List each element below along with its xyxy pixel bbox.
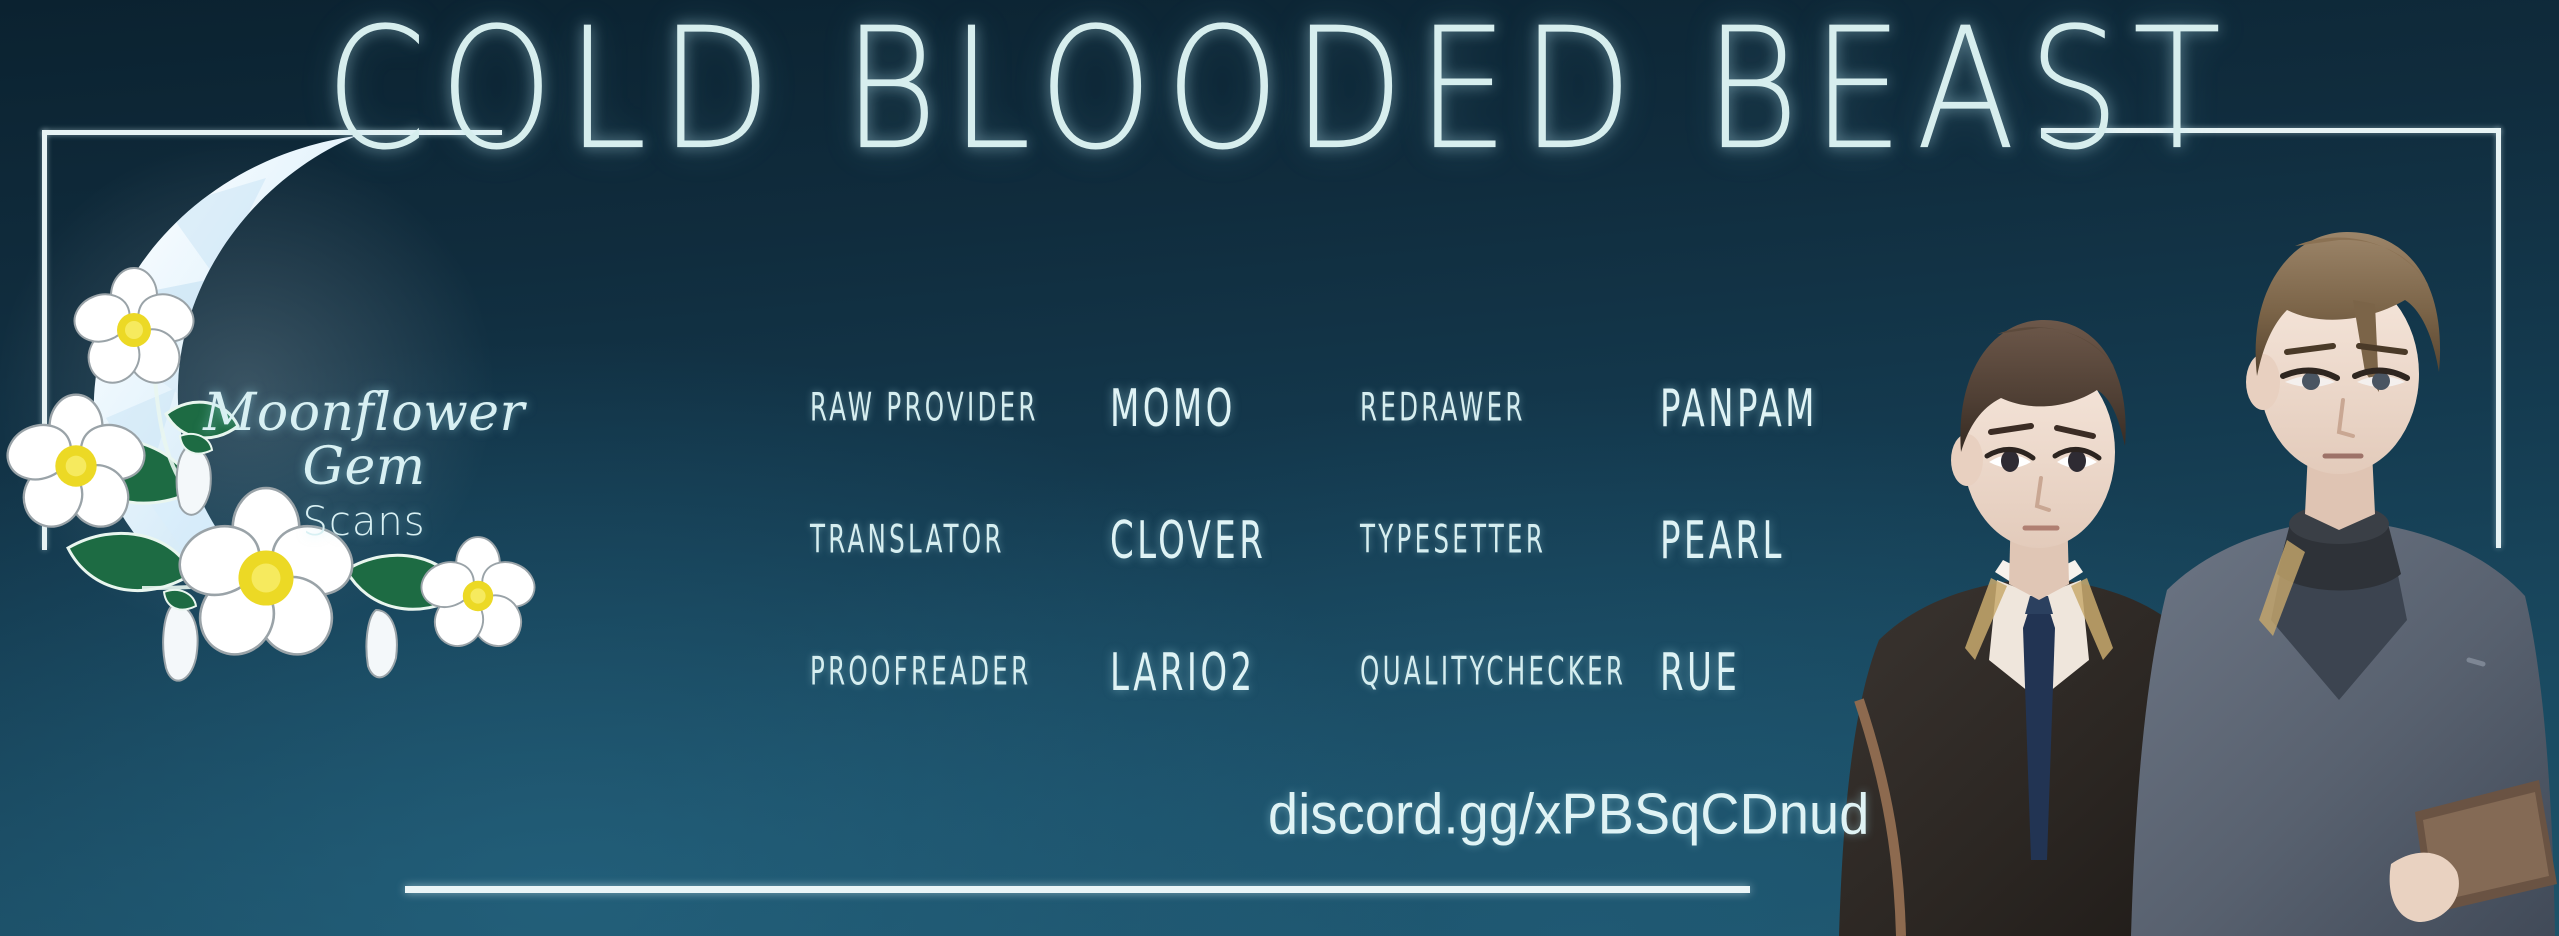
right-character-group [2131,232,2557,936]
credit-label-proofreader: PROOFREADER [810,650,1074,695]
credit-label-translator: TRANSLATOR [810,518,1074,563]
credits-grid: RAW PROVIDER MOMO REDRAWER PANPAM TRANSL… [810,342,1920,738]
bottom-divider-line [405,886,1750,893]
credit-value-typesetter: PEARL [1660,510,1894,570]
credit-label-redrawer: REDRAWER [1360,386,1624,431]
credit-label-raw-provider: RAW PROVIDER [810,386,1074,431]
credit-value-qualitychecker: RUE [1660,642,1894,702]
credit-value-redrawer: PANPAM [1660,378,1894,438]
moonflower-gem-scans-logo: Moonflower Gem Scans [46,118,686,638]
credit-value-proofreader: LARIO2 [1110,642,1335,702]
credits-banner: COLD BLOODED BEAST [0,0,2559,936]
credit-label-typesetter: TYPESETTER [1360,518,1624,563]
discord-invite-link[interactable]: discord.gg/xPBSqCDnud [1268,786,1870,843]
credit-value-raw-provider: MOMO [1110,378,1335,438]
credit-value-translator: CLOVER [1110,510,1335,570]
credit-label-qualitychecker: QUALITYCHECKER [1360,650,1624,695]
